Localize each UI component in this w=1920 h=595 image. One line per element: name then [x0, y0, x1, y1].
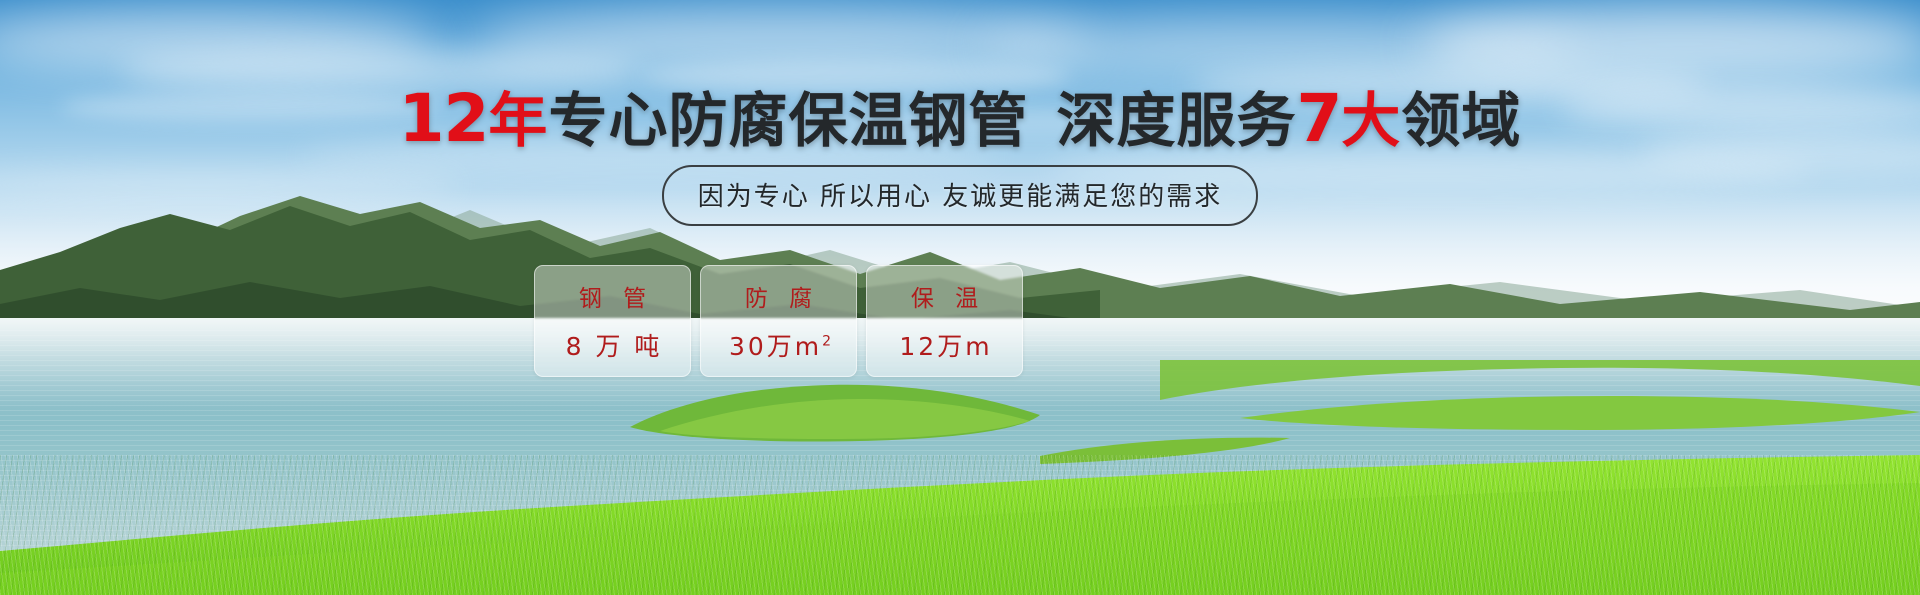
headline-main-text: 专心防腐保温钢管	[548, 86, 1028, 155]
headline-service-text: 深度服务	[1056, 86, 1296, 155]
stat-card-steel-pipe[interactable]: 钢 管 8 万 吨	[534, 265, 691, 377]
headline-fields-number: 7	[1296, 80, 1341, 157]
stat-value-superscript: 2	[822, 334, 831, 350]
stat-value: 30万m2	[726, 327, 831, 363]
stat-label: 钢 管	[572, 279, 653, 313]
cloud-shape	[1420, 4, 1920, 84]
headline-fields-text: 领域	[1401, 86, 1521, 155]
headline-years-unit: 年	[488, 86, 548, 155]
subtitle-pill: 因为专心 所以用心 友诚更能满足您的需求	[662, 165, 1259, 226]
subtitle-container: 因为专心 所以用心 友诚更能满足您的需求	[0, 165, 1920, 226]
stat-value-text: 8 万 吨	[566, 332, 663, 361]
stat-label: 防 腐	[738, 279, 819, 313]
stat-card-anticorrosion[interactable]: 防 腐 30万m2	[700, 265, 857, 377]
lake-islet	[620, 375, 1060, 445]
headline-years-number: 12	[399, 80, 489, 157]
page-title: 12年专心防腐保温钢管深度服务7大领域	[0, 86, 1920, 152]
stat-card-insulation[interactable]: 保 温 12万m	[866, 265, 1023, 377]
stats-row: 钢 管 8 万 吨 防 腐 30万m2 保 温 12万m	[534, 265, 1023, 377]
stat-value: 8 万 吨	[563, 327, 663, 363]
stat-value: 12万m	[896, 327, 992, 363]
foreground-grass	[0, 455, 1920, 595]
promo-banner: 12年专心防腐保温钢管深度服务7大领域 因为专心 所以用心 友诚更能满足您的需求…	[0, 0, 1920, 595]
stat-label: 保 温	[904, 279, 985, 313]
stat-value-text: 12万m	[899, 332, 992, 361]
headline-fields-unit: 大	[1341, 86, 1401, 155]
stat-value-text: 30万m	[729, 332, 822, 361]
right-bank-marsh	[1040, 360, 1920, 470]
